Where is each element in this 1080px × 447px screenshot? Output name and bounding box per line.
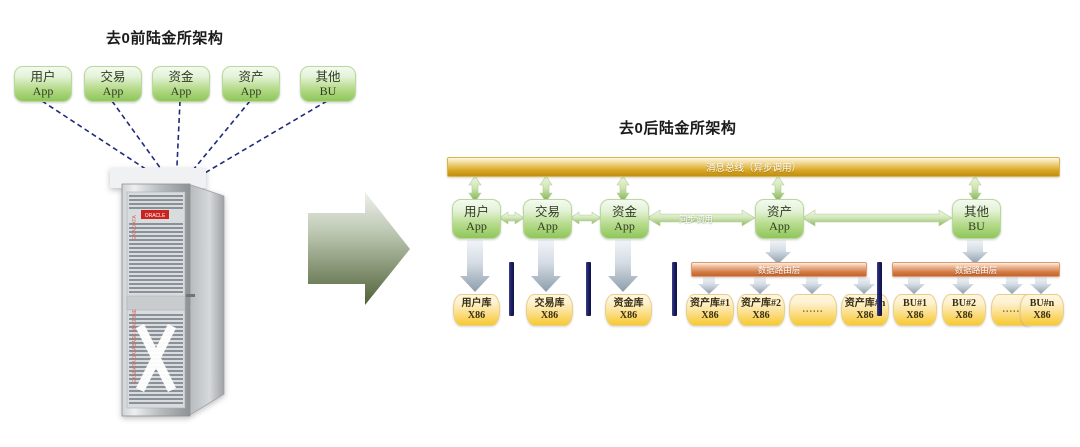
section-separator-1 [509, 262, 514, 316]
service-app-box-4-line2: App [769, 219, 790, 233]
database-box-11-line1: BU#n [1030, 298, 1054, 310]
database-box-3[interactable]: 资金库X86 [605, 294, 652, 326]
database-box-2[interactable]: 交易库X86 [526, 294, 573, 326]
service-app-box-1-line2: App [466, 219, 487, 233]
sync-call-label-left: 同步调用 [679, 213, 713, 225]
legacy-app-box-4-line1: 资产 [238, 70, 263, 85]
database-box-6[interactable]: ...... [789, 294, 837, 326]
legacy-app-box-1-line1: 用户 [30, 70, 55, 85]
database-box-5[interactable]: 资产库#2X86 [737, 294, 785, 326]
legacy-app-box-2-line1: 交易 [100, 70, 125, 85]
database-box-9-line2: X86 [955, 310, 972, 322]
data-routing-bar-1-label: 数据路由层 [758, 264, 801, 276]
database-box-7-line2: X86 [856, 310, 873, 322]
database-box-11-line2: X86 [1033, 310, 1050, 322]
message-bus-bar[interactable]: 消息总线（异步调用） [447, 157, 1060, 177]
database-box-5-line1: 资产库#2 [741, 298, 781, 310]
route-to-db-arrows [698, 277, 1052, 294]
legacy-server-rack: ORACLE EXADATA EXADATA DATABASE MACHINE [100, 168, 250, 430]
service-app-box-3-line1: 资金 [612, 205, 637, 220]
service-app-box-2-line1: 交易 [535, 205, 560, 220]
data-routing-bar-2[interactable]: 数据路由层 [892, 262, 1060, 277]
legacy-app-box-4-line2: App [241, 84, 262, 98]
architecture-diagram: 去0前陆金所架构 用户App交易App资金App资产App其他BU [0, 0, 1080, 447]
legacy-app-box-5[interactable]: 其他BU [300, 66, 356, 102]
section-separator-4 [877, 262, 882, 316]
legacy-app-box-1-line2: App [33, 84, 54, 98]
database-box-3-line2: X86 [620, 310, 637, 322]
database-box-4-line1: 资产库#1 [690, 298, 730, 310]
service-app-box-4-line1: 资产 [767, 205, 792, 220]
data-routing-bar-2-label: 数据路由层 [955, 264, 998, 276]
service-app-box-4[interactable]: 资产App [755, 199, 804, 239]
database-box-9-line1: BU#2 [952, 298, 976, 310]
left-section-title: 去0前陆金所架构 [106, 27, 223, 48]
legacy-app-box-1[interactable]: 用户App [14, 66, 72, 102]
service-app-box-5-line2: BU [968, 219, 985, 233]
rack-vendor-label: ORACLE [145, 213, 166, 219]
rack-side-watermark-top: EXADATA [132, 215, 138, 240]
database-box-4[interactable]: 资产库#1X86 [686, 294, 734, 326]
legacy-app-box-3-line1: 资金 [168, 70, 193, 85]
right-section-title: 去0后陆金所架构 [619, 117, 736, 138]
database-box-9[interactable]: BU#2X86 [942, 294, 986, 326]
data-routing-bar-1[interactable]: 数据路由层 [691, 262, 867, 277]
legacy-app-box-5-line1: 其他 [315, 70, 340, 85]
database-box-8-line1: BU#1 [903, 298, 927, 310]
service-app-box-2[interactable]: 交易App [523, 199, 572, 239]
service-app-box-2-line2: App [537, 219, 558, 233]
legacy-app-box-4[interactable]: 资产App [222, 66, 280, 102]
rack-side-watermark-bottom: EXADATA DATABASE MACHINE [132, 308, 138, 383]
database-box-8[interactable]: BU#1X86 [893, 294, 937, 326]
database-box-8-line2: X86 [906, 310, 923, 322]
database-box-2-line1: 交易库 [535, 298, 565, 310]
service-app-box-3[interactable]: 资金App [600, 199, 649, 239]
section-separator-2 [586, 262, 591, 316]
database-box-2-line2: X86 [541, 310, 558, 322]
legacy-app-box-2[interactable]: 交易App [84, 66, 142, 102]
service-app-box-3-line2: App [614, 219, 635, 233]
service-app-box-5[interactable]: 其他BU [952, 199, 1001, 239]
database-box-1[interactable]: 用户库X86 [453, 294, 500, 326]
service-app-box-1[interactable]: 用户App [452, 199, 501, 239]
legacy-app-box-5-line2: BU [320, 84, 337, 98]
legacy-app-box-3[interactable]: 资金App [152, 66, 210, 102]
database-box-11[interactable]: BU#nX86 [1020, 294, 1064, 326]
database-box-6-line1: ...... [803, 304, 824, 316]
database-box-3-line1: 资金库 [614, 298, 644, 310]
migration-arrow [308, 192, 410, 305]
database-box-5-line2: X86 [752, 310, 769, 322]
database-box-4-line2: X86 [701, 310, 718, 322]
service-app-box-1-line1: 用户 [464, 205, 489, 220]
message-bus-label: 消息总线（异步调用） [706, 160, 801, 174]
legacy-app-box-2-line2: App [103, 84, 124, 98]
service-app-box-5-line1: 其他 [964, 205, 989, 220]
section-separator-3 [672, 262, 677, 316]
legacy-app-box-3-line2: App [171, 84, 192, 98]
database-box-1-line1: 用户库 [462, 298, 492, 310]
database-box-1-line2: X86 [468, 310, 485, 322]
